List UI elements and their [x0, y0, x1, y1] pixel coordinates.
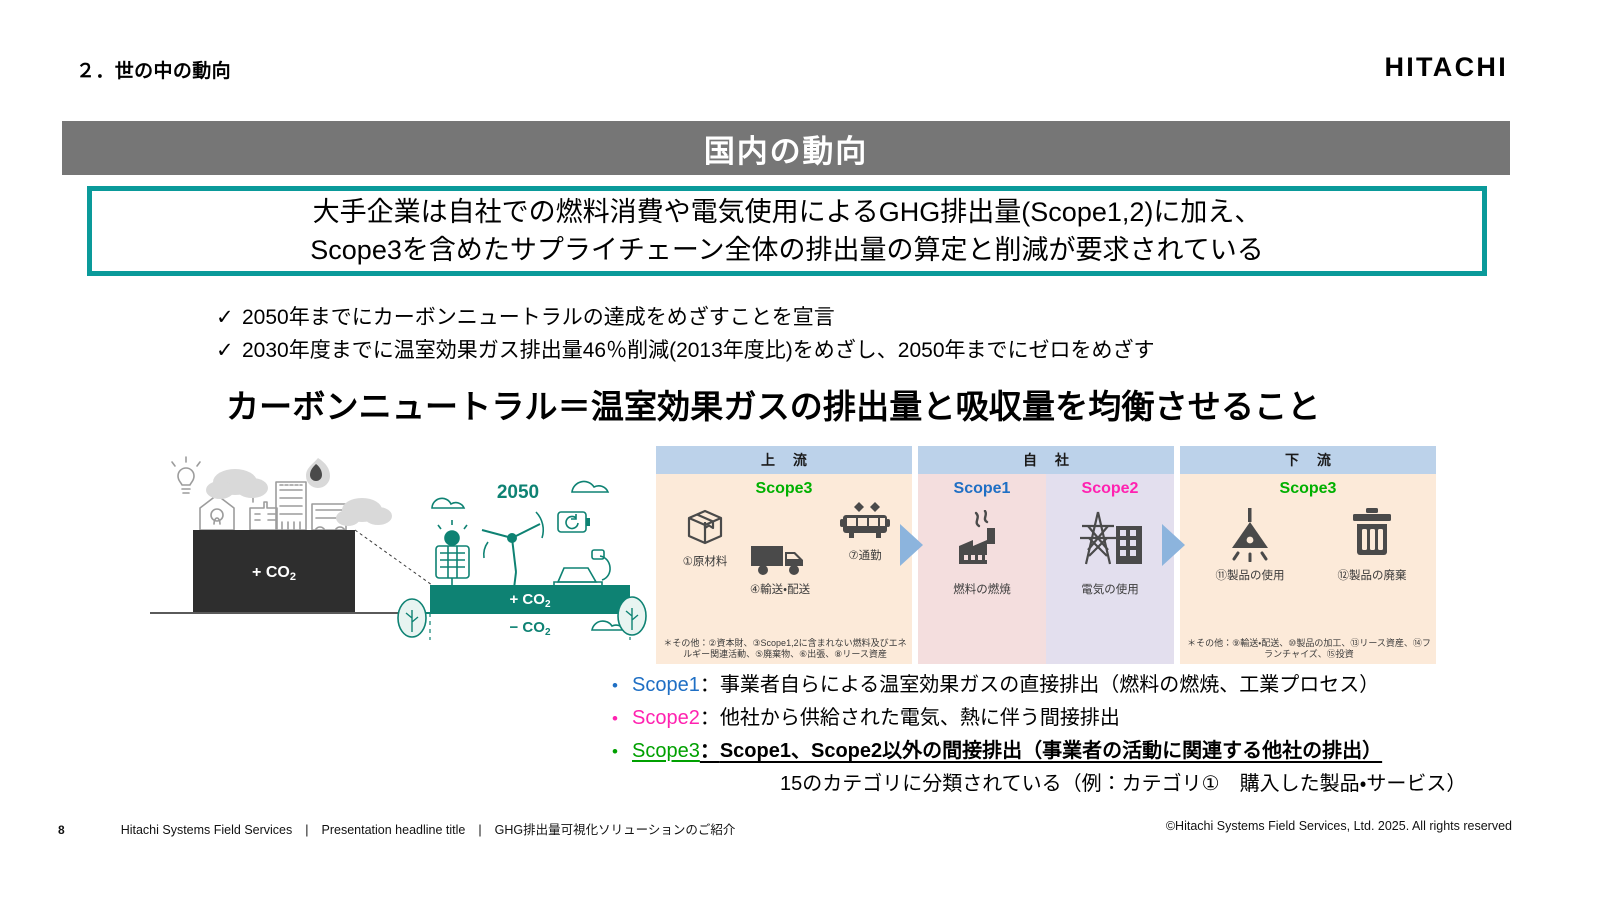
slide-root: ２．世の中の動向 HITACHI 国内の動向 大手企業は自社での燃料消費や電気使… [0, 0, 1600, 900]
svg-text:2050: 2050 [497, 482, 539, 503]
bus-icon [837, 500, 893, 542]
upstream-footnote: ＊その他：②資本財、③Scope1,2に含まれない燃料及びエネルギー関連活動、⑤… [662, 638, 908, 660]
footer-doc-title: Presentation headline title [322, 823, 466, 837]
truck-icon [749, 540, 811, 576]
hitachi-logo: HITACHI [1384, 52, 1508, 83]
checklist-item-label: 2030年度までに温室効果ガス排出量46％削減(2013年度比)をめざし、205… [242, 338, 1155, 364]
key-message-box: 大手企業は自社での燃料消費や電気使用によるGHG排出量(Scope1,2)に加え… [87, 186, 1487, 276]
key-message-line-2: Scope3を含めたサプライチェーン全体の排出量の算定と削減が要求されている [310, 231, 1263, 269]
flow-arrow-2 [1162, 524, 1185, 566]
scope-label-upstream: Scope3 [656, 480, 912, 498]
svg-text:+ CO2: + CO2 [510, 591, 551, 610]
check-icon: ✓ [216, 305, 242, 331]
scope-note-key: Scope1 [632, 674, 700, 697]
column-header-downstream: 下 流 [1180, 446, 1436, 474]
column-header-own: 自 社 [918, 446, 1174, 474]
scope-note-separator: ： [700, 701, 720, 730]
headline: カーボンニュートラル＝温室効果ガスの排出量と吸収量を均衡させること [226, 380, 1320, 428]
pane-scope1: Scope1 [918, 474, 1046, 664]
key-message-line-1: 大手企業は自社での燃料消費や電気使用によるGHG排出量(Scope1,2)に加え… [313, 193, 1262, 231]
scope-note-text: 他社から供給された電気、熱に伴う間接排出 [720, 701, 1120, 730]
title-bar-text: 国内の動向 [704, 126, 868, 171]
svg-text:− CO2: − CO2 [510, 619, 551, 638]
carbon-neutral-illustration: + CO2 2050 [140, 440, 650, 640]
footer-separator: | [305, 823, 308, 837]
bullet-icon: • [612, 710, 632, 727]
scope-note-key: Scope3 [632, 740, 700, 763]
scope-notes: • Scope1 ： 事業者自らによる温室効果ガスの直接排出（燃料の燃焼、工業プ… [612, 668, 1492, 796]
scope-note-subline: 15のカテゴリに分類されている（例：カテゴリ① 購入した製品・サービス） [780, 767, 1492, 796]
pane-scope2: Scope2 [1046, 474, 1174, 664]
bullet-icon: • [612, 743, 632, 760]
icon-group-transport: ④輸送・配送 [720, 540, 840, 597]
checklist: ✓ 2050年までにカーボンニュートラルの達成をめざすことを宣言 ✓ 2030年… [216, 305, 1496, 372]
icon-caption: ⑫製品の廃棄 [1316, 567, 1428, 583]
footer-separator: | [478, 823, 481, 837]
scope-label-1: Scope1 [918, 480, 1046, 498]
diagram-column-downstream: 下 流 Scope3 [1180, 446, 1436, 664]
scope-note-row: • Scope3 ： Scope1、Scope2以外の間接排出（事業者の活動に関… [612, 734, 1492, 763]
flow-arrow-1 [900, 524, 923, 566]
icon-group-product-disposal: ⑫製品の廃棄 [1316, 506, 1428, 583]
pylon-building-icon [1076, 508, 1144, 568]
scope-label-2: Scope2 [1046, 480, 1174, 498]
icon-group-fuel-combustion: 燃料の燃焼 [918, 510, 1046, 597]
scope-note-text: Scope1、Scope2以外の間接排出（事業者の活動に関連する他社の排出） [720, 734, 1382, 763]
trash-icon [1349, 506, 1395, 562]
footer-copyright: ©Hitachi Systems Field Services, Ltd. 20… [1166, 819, 1512, 833]
title-bar: 国内の動向 [62, 121, 1510, 175]
scope-note-row: • Scope2 ： 他社から供給された電気、熱に伴う間接排出 [612, 701, 1492, 730]
diagram-column-upstream: 上 流 Scope3 ①原材料 [656, 446, 912, 664]
bullet-icon: • [612, 677, 632, 694]
scope-note-separator: ： [700, 734, 720, 763]
scope-note-separator: ： [700, 668, 720, 697]
scope-note-key: Scope2 [632, 707, 700, 730]
illustration-svg: + CO2 2050 [140, 440, 650, 640]
downstream-footnote: ＊その他：⑨輸送・配送、⑩製品の加工、⑬リース資産、⑭フランチャイズ、⑮投資 [1186, 638, 1432, 660]
svg-text:+ CO2: + CO2 [252, 564, 296, 583]
lamp-icon [1225, 506, 1275, 562]
checklist-item-label: 2050年までにカーボンニュートラルの達成をめざすことを宣言 [242, 305, 835, 331]
scope-note-text: 事業者自らによる温室効果ガスの直接排出（燃料の燃焼、工業プロセス） [720, 668, 1379, 697]
icon-group-product-use: ⑪製品の使用 [1194, 506, 1306, 583]
diagram-column-own: 自 社 Scope1 [918, 446, 1174, 664]
pane-upstream-scope3: Scope3 ①原材料 [656, 474, 912, 664]
icon-group-electricity-use: 電気の使用 [1046, 508, 1174, 597]
icon-caption: ⑪製品の使用 [1194, 567, 1306, 583]
scope-note-row: • Scope1 ： 事業者自らによる温室効果ガスの直接排出（燃料の燃焼、工業プ… [612, 668, 1492, 697]
icon-caption: 燃料の燃焼 [918, 581, 1046, 597]
factory-icon [951, 510, 1013, 568]
footer-left: 8 Hitachi Systems Field Services | Prese… [58, 819, 735, 838]
scope-label-downstream: Scope3 [1180, 480, 1436, 498]
icon-caption: 電気の使用 [1046, 581, 1174, 597]
footer-company: Hitachi Systems Field Services [121, 823, 293, 837]
column-header-upstream: 上 流 [656, 446, 912, 474]
check-icon: ✓ [216, 338, 242, 364]
icon-caption: ④輸送・配送 [720, 581, 840, 597]
scope-diagram: 上 流 Scope3 ①原材料 [656, 446, 1436, 664]
page-number: 8 [58, 823, 65, 837]
footer-deck-title: GHG排出量可視化ソリューションのご紹介 [495, 819, 736, 838]
checklist-item: ✓ 2030年度までに温室効果ガス排出量46％削減(2013年度比)をめざし、2… [216, 338, 1496, 364]
pane-downstream-scope3: Scope3 ⑪製品の使用 [1180, 474, 1436, 664]
checklist-item: ✓ 2050年までにカーボンニュートラルの達成をめざすことを宣言 [216, 305, 1496, 331]
section-label: ２．世の中の動向 [76, 56, 231, 83]
